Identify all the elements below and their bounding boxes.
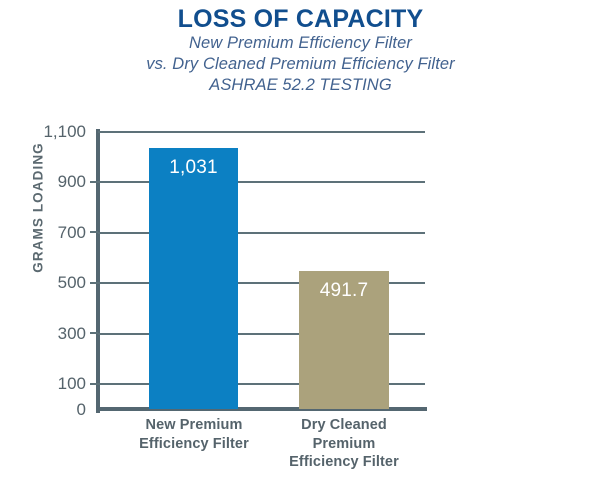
x-axis-label-line: Efficiency Filter [269,453,419,472]
y-tick-label: 700 [2,224,86,241]
chart-title: LOSS OF CAPACITY [0,0,601,33]
y-tick-label: 900 [2,173,86,190]
gridline [98,181,425,183]
y-axis-tick [90,383,98,385]
y-tick-label: 0 [2,401,86,418]
gridline [98,131,425,133]
chart-subtitle-line-3: ASHRAE 52.2 TESTING [0,75,601,96]
x-axis-label-line: Dry Cleaned [269,416,419,435]
x-axis-label-line: New Premium [119,416,269,435]
x-axis-label-line: Efficiency Filter [119,435,269,454]
y-axis-tick [90,332,98,334]
y-axis-tick [90,181,98,183]
x-axis-category-labels: New Premium Efficiency Filter Dry Cleane… [98,416,425,480]
bar-value-label: 491.7 [299,280,389,302]
y-tick-label: 500 [2,274,86,291]
bar-new-premium-efficiency-filter[interactable]: 1,031 [149,148,238,409]
y-axis-tick [90,231,98,233]
x-axis-label-line: Premium [269,435,419,454]
y-tick-label: 100 [2,375,86,392]
plot-area: 1,031 491.7 [98,131,425,409]
y-axis-tick [90,282,98,284]
bar-value-label: 1,031 [149,157,238,179]
x-axis-label-new-premium-efficiency-filter: New Premium Efficiency Filter [119,416,269,453]
y-tick-label: 1,100 [2,123,86,140]
x-axis-label-dry-cleaned-premium-efficiency-filter: Dry Cleaned Premium Efficiency Filter [269,416,419,472]
chart-subtitle-line-1: New Premium Efficiency Filter [0,33,601,54]
y-axis-tick-labels: 1,100 900 700 500 300 100 0 [0,0,86,481]
bar-dry-cleaned-premium-efficiency-filter[interactable]: 491.7 [299,271,389,409]
chart-header: LOSS OF CAPACITY New Premium Efficiency … [0,0,601,96]
chart-subtitle-line-2: vs. Dry Cleaned Premium Efficiency Filte… [0,54,601,75]
y-tick-label: 300 [2,325,86,342]
gridline [98,232,425,234]
